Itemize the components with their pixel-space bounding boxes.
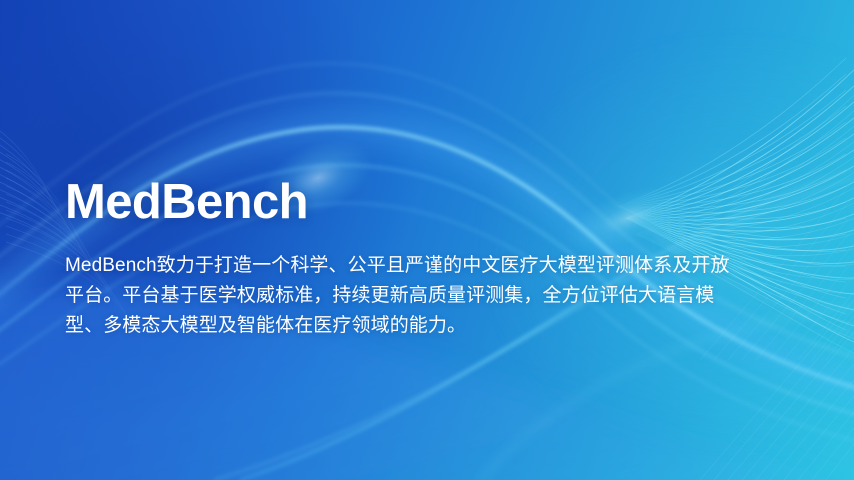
banner-content: MedBench MedBench致力于打造一个科学、公平且严谨的中文医疗大模型… (65, 175, 745, 341)
page-title: MedBench (65, 175, 745, 229)
medbench-banner: MedBench MedBench致力于打造一个科学、公平且严谨的中文医疗大模型… (0, 0, 854, 480)
banner-description: MedBench致力于打造一个科学、公平且严谨的中文医疗大模型评测体系及开放平台… (65, 251, 733, 341)
